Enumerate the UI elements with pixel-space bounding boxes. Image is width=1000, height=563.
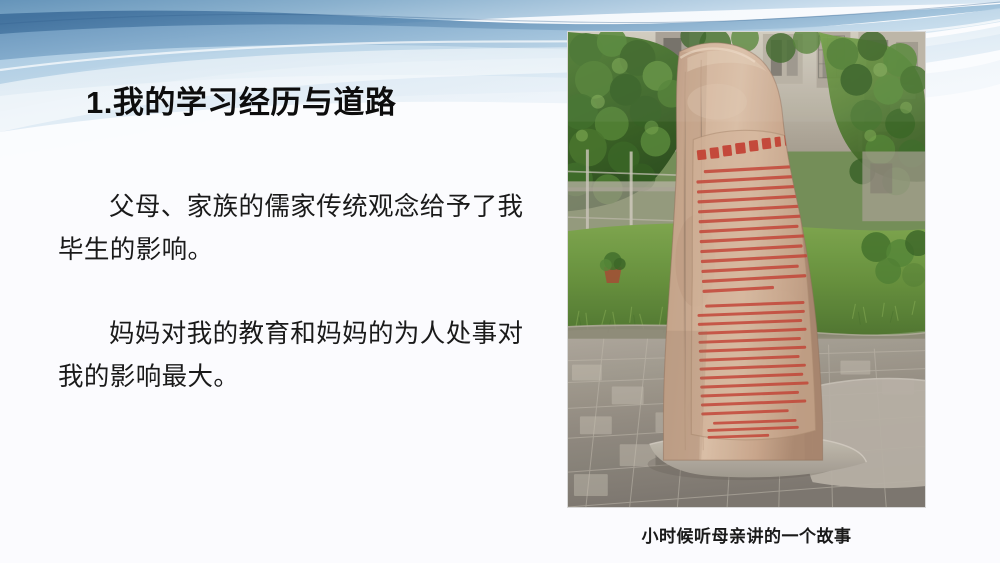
- stone-monument-photo: [567, 31, 926, 508]
- body-text-block: 父母、家族的儒家传统观念给予了我毕生的影响。 妈妈对我的教育和妈妈的为人处事对我…: [58, 186, 528, 399]
- photo-caption: 小时候听母亲讲的一个故事: [567, 522, 926, 547]
- paragraph-2: 妈妈对我的教育和妈妈的为人处事对我的影响最大。: [58, 313, 528, 400]
- photo-illustration: [568, 32, 925, 507]
- slide-title: 1.我的学习经历与道路: [86, 84, 396, 123]
- slide-canvas: 1.我的学习经历与道路 父母、家族的儒家传统观念给予了我毕生的影响。 妈妈对我的…: [0, 0, 1000, 563]
- paragraph-1: 父母、家族的儒家传统观念给予了我毕生的影响。: [58, 186, 528, 273]
